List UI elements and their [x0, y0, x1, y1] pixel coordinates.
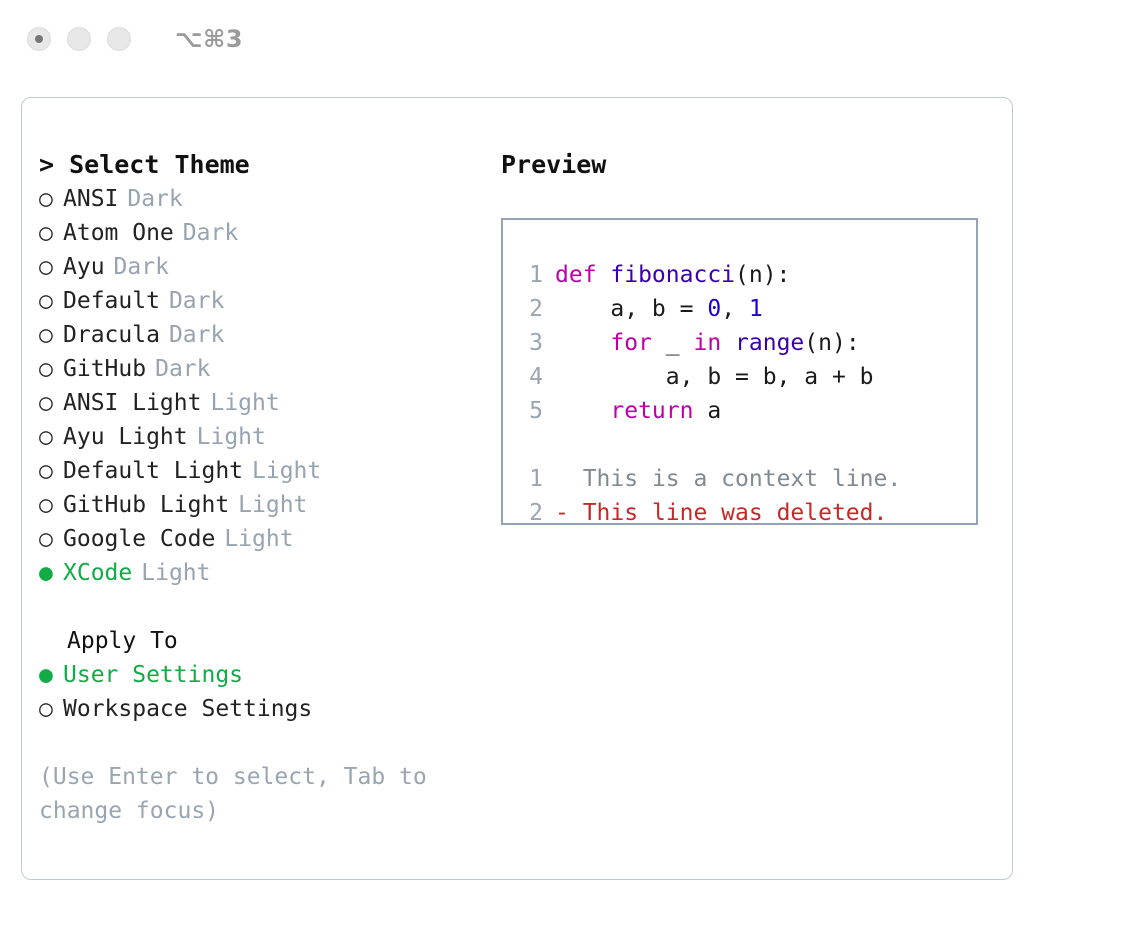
apply-to-option-label: Workspace Settings	[63, 692, 312, 726]
theme-option-label: ANSI	[63, 182, 118, 216]
theme-option-atom-one[interactable]: ○Atom OneDark	[39, 216, 499, 250]
theme-option-kind: Light	[197, 420, 266, 454]
theme-option-github-light[interactable]: ○GitHub LightLight	[39, 488, 499, 522]
radio-empty-icon: ○	[39, 182, 63, 216]
radio-empty-icon: ○	[39, 386, 63, 420]
main-panel: > Select Theme ○ANSIDark○Atom OneDark○Ay…	[21, 97, 1013, 880]
theme-option-kind: Light	[252, 454, 321, 488]
select-theme-heading: > Select Theme	[39, 148, 499, 182]
radio-empty-icon: ○	[39, 284, 63, 318]
window-dot-inner	[35, 35, 43, 43]
radio-empty-icon: ○	[39, 488, 63, 522]
code-line-content: a, b = 0, 1	[555, 292, 763, 326]
radio-empty-icon: ○	[39, 352, 63, 386]
theme-option-kind: Light	[224, 522, 293, 556]
code-line: 4 a, b = b, a + b	[503, 360, 976, 394]
code-token-plain	[721, 330, 735, 356]
theme-option-label: Ayu	[63, 250, 105, 284]
theme-option-kind: Dark	[169, 284, 224, 318]
theme-option-label: Atom One	[63, 216, 174, 250]
window-dot-third-icon[interactable]	[107, 27, 131, 51]
theme-option-label: GitHub Light	[63, 488, 229, 522]
theme-option-default[interactable]: ○DefaultDark	[39, 284, 499, 318]
radio-empty-icon: ○	[39, 692, 63, 726]
title-bar: ⌥⌘3	[0, 0, 1140, 78]
code-line: 3 for _ in range(n):	[503, 326, 976, 360]
code-line-content: a, b = b, a + b	[555, 360, 874, 394]
app-window: ⌥⌘3 > Select Theme ○ANSIDark○Atom OneDar…	[0, 0, 1140, 934]
theme-option-xcode[interactable]: ●XCodeLight	[39, 556, 499, 590]
theme-option-default-light[interactable]: ○Default LightLight	[39, 454, 499, 488]
theme-option-kind: Dark	[169, 318, 224, 352]
code-line: 2 a, b = 0, 1	[503, 292, 976, 326]
theme-option-label: XCode	[63, 556, 132, 590]
theme-option-kind: Dark	[183, 216, 238, 250]
code-line: 1def fibonacci(n):	[503, 258, 976, 292]
preview-heading: Preview	[501, 148, 991, 182]
radio-empty-icon: ○	[39, 250, 63, 284]
code-token-kw: def	[555, 262, 610, 288]
theme-option-kind: Light	[238, 488, 307, 522]
code-token-plain: (n):	[804, 330, 859, 356]
diff-line: 1 This is a context line.	[503, 462, 976, 496]
keyboard-hint-text: (Use Enter to select, Tab to change focu…	[39, 760, 459, 828]
theme-option-kind: Dark	[114, 250, 169, 284]
theme-option-kind: Light	[210, 386, 279, 420]
code-token-kw: return	[610, 398, 693, 424]
theme-option-kind: Dark	[127, 182, 182, 216]
radio-empty-icon: ○	[39, 522, 63, 556]
theme-option-label: ANSI Light	[63, 386, 201, 420]
code-token-plain: a	[693, 398, 721, 424]
diff-marker	[555, 462, 569, 496]
code-token-num: 1	[749, 296, 763, 322]
section-spacer	[39, 590, 499, 624]
apply-to-option-workspace-settings[interactable]: ○Workspace Settings	[39, 692, 499, 726]
diff-line: 2- This line was deleted.	[503, 496, 976, 525]
theme-option-kind: Light	[141, 556, 210, 590]
code-diff-spacer	[503, 428, 976, 462]
theme-option-ansi[interactable]: ○ANSIDark	[39, 182, 499, 216]
window-dot-second-icon[interactable]	[67, 27, 91, 51]
code-preview: 1def fibonacci(n):2 a, b = 0, 13 for _ i…	[503, 258, 976, 428]
theme-option-label: Google Code	[63, 522, 215, 556]
diff-preview: 1 This is a context line.2- This line wa…	[503, 462, 976, 525]
code-line: 5 return a	[503, 394, 976, 428]
diff-line-text: This line was deleted.	[569, 496, 888, 525]
preview-box: 1def fibonacci(n):2 a, b = 0, 13 for _ i…	[501, 218, 978, 525]
code-token-fn: range	[735, 330, 804, 356]
code-token-kw: in	[693, 330, 721, 356]
code-line-content: def fibonacci(n):	[555, 258, 790, 292]
theme-option-label: GitHub	[63, 352, 146, 386]
panel-columns: > Select Theme ○ANSIDark○Atom OneDark○Ay…	[22, 98, 1012, 879]
radio-empty-icon: ○	[39, 318, 63, 352]
diff-line-number: 1	[517, 462, 543, 496]
code-token-plain: (n):	[735, 262, 790, 288]
keyboard-shortcut-label: ⌥⌘3	[175, 25, 243, 53]
code-line-number: 3	[517, 326, 543, 360]
code-line-content: return a	[555, 394, 721, 428]
theme-option-label: Default Light	[63, 454, 243, 488]
theme-option-kind: Dark	[155, 352, 210, 386]
diff-marker: -	[555, 496, 569, 525]
theme-select-column: > Select Theme ○ANSIDark○Atom OneDark○Ay…	[39, 148, 499, 828]
apply-to-option-label: User Settings	[63, 658, 243, 692]
code-token-kw: for	[610, 330, 652, 356]
code-token-plain: a, b = b, a + b	[555, 364, 874, 390]
radio-empty-icon: ○	[39, 420, 63, 454]
code-line-number: 1	[517, 258, 543, 292]
code-line-number: 4	[517, 360, 543, 394]
code-token-plain	[555, 398, 610, 424]
theme-option-google-code[interactable]: ○Google CodeLight	[39, 522, 499, 556]
theme-option-list: ○ANSIDark○Atom OneDark○AyuDark○DefaultDa…	[39, 182, 499, 590]
code-token-plain: a, b =	[555, 296, 707, 322]
code-token-num: 0	[707, 296, 721, 322]
theme-option-label: Ayu Light	[63, 420, 188, 454]
apply-to-option-list: ●User Settings○Workspace Settings	[39, 658, 499, 726]
apply-to-option-user-settings[interactable]: ●User Settings	[39, 658, 499, 692]
theme-option-dracula[interactable]: ○DraculaDark	[39, 318, 499, 352]
theme-option-ayu[interactable]: ○AyuDark	[39, 250, 499, 284]
theme-option-github[interactable]: ○GitHubDark	[39, 352, 499, 386]
window-dot-active-icon[interactable]	[27, 27, 51, 51]
code-token-plain: ,	[721, 296, 749, 322]
theme-option-label: Default	[63, 284, 160, 318]
code-line-number: 5	[517, 394, 543, 428]
preview-column: Preview 1def fibonacci(n):2 a, b = 0, 13…	[501, 148, 991, 525]
code-line-content: for _ in range(n):	[555, 326, 860, 360]
radio-selected-icon: ●	[39, 658, 63, 692]
theme-option-ansi-light[interactable]: ○ANSI LightLight	[39, 386, 499, 420]
theme-option-label: Dracula	[63, 318, 160, 352]
code-token-fn: fibonacci	[610, 262, 735, 288]
code-token-plain: _	[652, 330, 694, 356]
radio-empty-icon: ○	[39, 216, 63, 250]
code-token-plain	[555, 330, 610, 356]
code-line-number: 2	[517, 292, 543, 326]
radio-empty-icon: ○	[39, 454, 63, 488]
theme-option-ayu-light[interactable]: ○Ayu LightLight	[39, 420, 499, 454]
diff-line-text: This is a context line.	[569, 462, 901, 496]
radio-selected-icon: ●	[39, 556, 63, 590]
diff-line-number: 2	[517, 496, 543, 525]
apply-to-heading: Apply To	[39, 624, 499, 658]
window-controls	[27, 27, 131, 51]
